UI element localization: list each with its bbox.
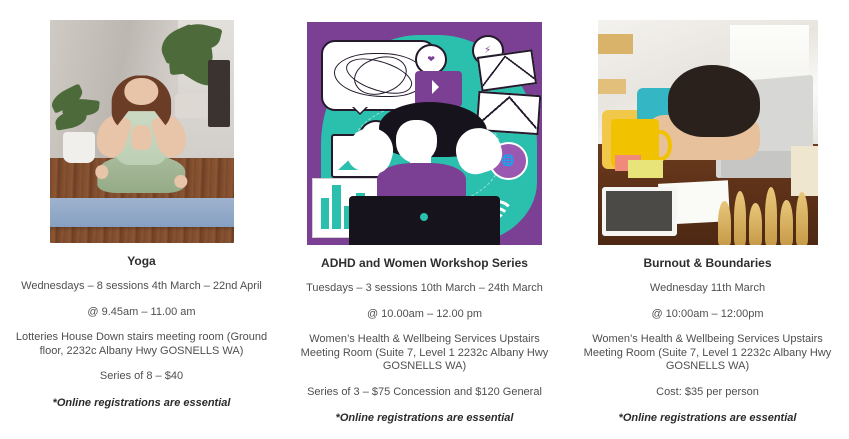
wall-shelf	[598, 34, 633, 54]
tablet-device	[602, 187, 677, 237]
person-left-foot	[96, 165, 109, 179]
adhd-image-wrap: ❤ ⚡ < 🌐	[283, 0, 566, 245]
workshop-card-yoga: Yoga Wednesdays – 8 sessions 4th March –…	[0, 0, 283, 439]
workshop-location: Women’s Health & Wellbeing Services Upst…	[566, 333, 849, 374]
registration-note: *Online registrations are essential	[566, 412, 849, 426]
workshop-card-adhd: ❤ ⚡ < 🌐	[283, 0, 566, 439]
workshop-title: ADHD and Women Workshop Series	[283, 256, 566, 270]
workshop-card-burnout: Burnout & Boundaries Wednesday 11th Marc…	[566, 0, 849, 439]
workshop-time: @ 9.45am – 11.00 am	[0, 306, 283, 320]
registration-note: *Online registrations are essential	[283, 412, 566, 426]
workshop-time: @ 10:00am – 12:00pm	[566, 308, 849, 322]
yoga-person	[92, 78, 191, 203]
workshop-schedule: Tuesdays – 3 sessions 10th March – 24th …	[283, 282, 566, 296]
laptop-icon	[349, 196, 499, 245]
workshop-time: @ 10.00am – 12.00 pm	[283, 308, 566, 322]
prayer-hands	[132, 125, 152, 150]
sticky-note	[628, 160, 663, 178]
chess-pieces	[716, 182, 813, 245]
workshop-price: Series of 3 – $75 Concession and $120 Ge…	[283, 386, 566, 400]
plant-pot	[63, 132, 95, 162]
workshop-location: Women’s Health & Wellbeing Services Upst…	[283, 333, 566, 374]
registration-note: *Online registrations are essential	[0, 397, 283, 411]
workshop-price: Series of 8 – $40	[0, 370, 283, 384]
envelope-icon	[477, 50, 537, 93]
adhd-illustration: ❤ ⚡ < 🌐	[307, 22, 542, 245]
person-head	[125, 78, 159, 105]
workshop-title: Burnout & Boundaries	[566, 256, 849, 270]
workshop-schedule: Wednesdays – 8 sessions 4th March – 22nd…	[0, 280, 283, 294]
burnout-image-wrap	[566, 0, 849, 245]
workshop-price: Cost: $35 per person	[566, 386, 849, 400]
stressed-woman-figure	[373, 102, 476, 200]
person-right-foot	[174, 175, 187, 187]
workshop-title: Yoga	[0, 254, 283, 268]
workshop-flyer: Yoga Wednesdays – 8 sessions 4th March –…	[0, 0, 849, 439]
head-down-hair	[668, 65, 760, 137]
workshop-location: Lotteries House Down stairs meeting room…	[0, 331, 283, 358]
workshop-schedule: Wednesday 11th March	[566, 282, 849, 296]
yoga-image-wrap	[0, 0, 283, 243]
chair-silhouette	[208, 60, 230, 127]
yoga-photo	[50, 20, 234, 243]
wall-shelf	[598, 79, 627, 95]
burnout-photo	[598, 20, 818, 245]
